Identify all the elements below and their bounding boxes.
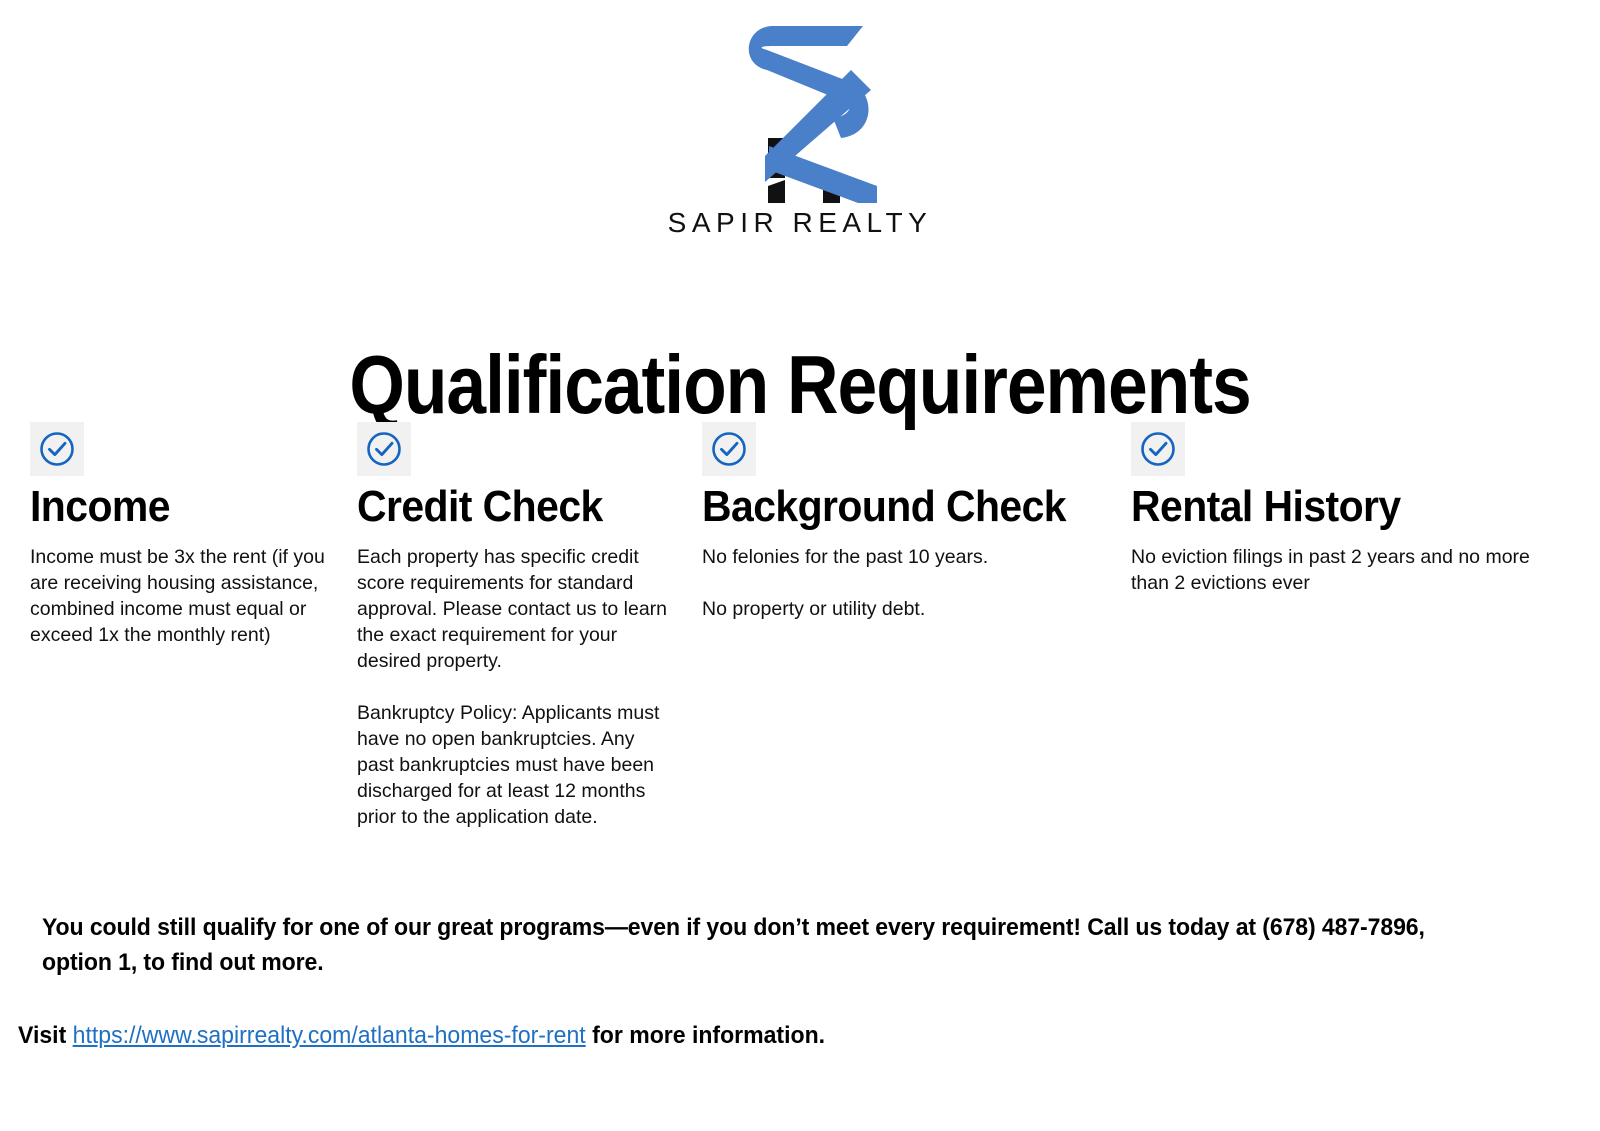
brand-wordmark: SAPIR REALTY xyxy=(0,207,1600,239)
brand-logo: SAPIR REALTY xyxy=(0,18,1600,239)
column-paragraph: Bankruptcy Policy: Applicants must have … xyxy=(357,700,672,830)
requirement-column-background-check: Background Check No felonies for the pas… xyxy=(702,422,1102,622)
requirement-column-income: Income Income must be 3x the rent (if yo… xyxy=(30,422,345,648)
column-paragraph: No felonies for the past 10 years. xyxy=(702,544,1102,570)
column-title: Background Check xyxy=(702,482,1074,532)
visit-prefix: Visit xyxy=(18,1022,73,1049)
requirement-column-credit-check: Credit Check Each property has specific … xyxy=(357,422,672,830)
column-paragraph: No property or utility debt. xyxy=(702,596,1102,622)
page-title: Qualification Requirements xyxy=(112,339,1488,431)
column-title: Credit Check xyxy=(357,482,650,532)
column-title: Rental History xyxy=(1131,482,1526,532)
requirements-columns: Income Income must be 3x the rent (if yo… xyxy=(0,422,1600,852)
visit-website-line: Visit https://www.sapirrealty.com/atlant… xyxy=(18,1020,1506,1052)
column-paragraph: No eviction filings in past 2 years and … xyxy=(1131,544,1556,596)
sapir-realty-sr-house-logo-icon xyxy=(705,18,895,203)
column-paragraph: Income must be 3x the rent (if you are r… xyxy=(30,544,345,648)
visit-suffix: for more information. xyxy=(586,1022,825,1049)
website-link[interactable]: https://www.sapirrealty.com/atlanta-home… xyxy=(73,1022,586,1049)
check-circle-icon xyxy=(1131,422,1185,476)
check-circle-icon xyxy=(357,422,411,476)
column-paragraph: Each property has specific credit score … xyxy=(357,544,672,674)
check-circle-icon xyxy=(30,422,84,476)
check-circle-icon xyxy=(702,422,756,476)
call-to-action-text: You could still qualify for one of our g… xyxy=(42,910,1482,980)
column-title: Income xyxy=(30,482,323,532)
requirement-column-rental-history: Rental History No eviction filings in pa… xyxy=(1131,422,1556,596)
